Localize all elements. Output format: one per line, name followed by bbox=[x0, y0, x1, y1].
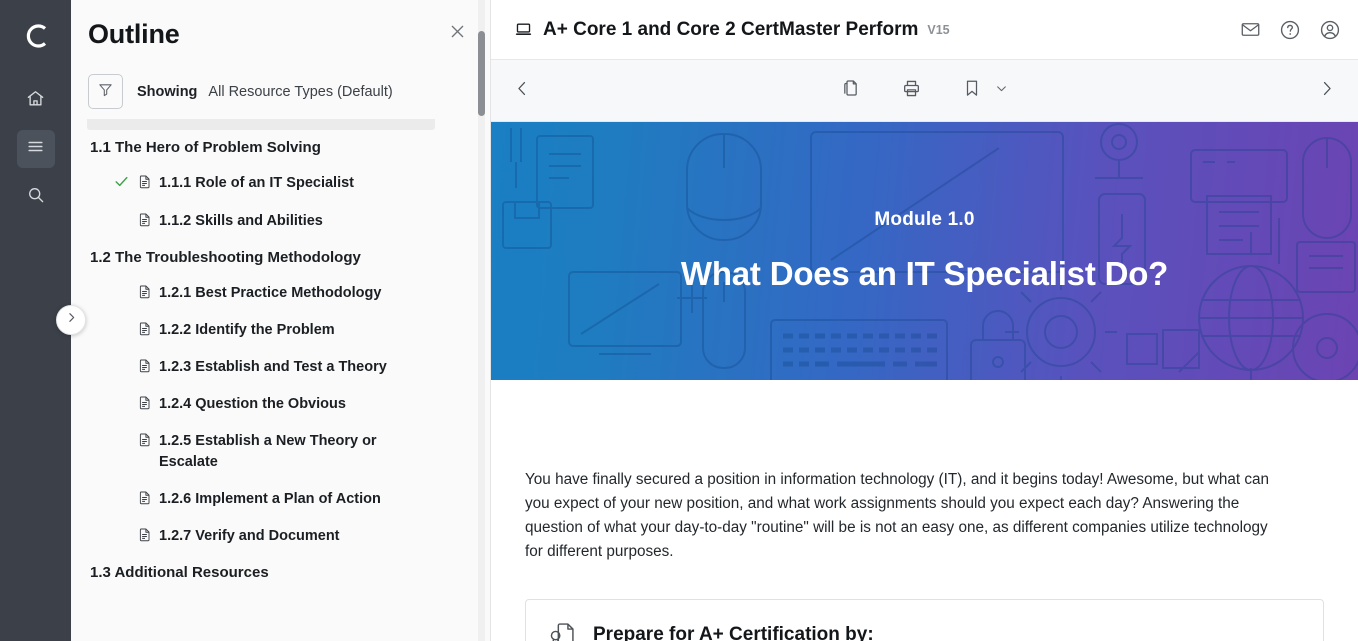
filter-funnel-icon bbox=[97, 81, 114, 103]
outline-item-section[interactable]: 1.3 Additional Resources bbox=[88, 555, 470, 590]
outline-item-label: 1.3 Additional Resources bbox=[90, 564, 269, 581]
outline-item-label: 1.2.7 Verify and Document bbox=[159, 526, 340, 547]
outline-item-label: 1.2.4 Question the Obvious bbox=[159, 394, 346, 415]
outline-item-label: Module 1.0 Introduction bbox=[103, 119, 272, 123]
close-icon bbox=[448, 22, 467, 46]
outline-header: Outline bbox=[71, 0, 490, 68]
previous-page-button[interactable] bbox=[513, 79, 532, 103]
chevron-right-icon bbox=[65, 311, 78, 329]
home-icon bbox=[26, 89, 45, 113]
outline-item-label: 1.2.2 Identify the Problem bbox=[159, 320, 335, 341]
outline-scrollbar-thumb[interactable] bbox=[478, 31, 485, 116]
book-icon bbox=[515, 21, 532, 38]
outline-item-topic[interactable]: 1.2.3 Establish and Test a Theory bbox=[88, 349, 470, 386]
document-icon bbox=[137, 211, 159, 227]
outline-item-label: 1.2.3 Establish and Test a Theory bbox=[159, 357, 387, 378]
outline-item-topic[interactable]: 1.2.6 Implement a Plan of Action bbox=[88, 481, 470, 518]
outline-item-module[interactable]: Module 1.0 Introduction bbox=[87, 119, 435, 130]
hamburger-menu-icon bbox=[26, 137, 45, 161]
intro-paragraph: You have finally secured a position in i… bbox=[491, 380, 1321, 564]
outline-item-section[interactable]: 1.2 The Troubleshooting Methodology bbox=[88, 240, 470, 275]
hero-tech-pattern bbox=[491, 122, 1358, 380]
outline-item-label: 1.2.5 Establish a New Theory or Escalate bbox=[159, 431, 417, 473]
main-area: A+ Core 1 and Core 2 CertMaster Perform … bbox=[491, 0, 1358, 641]
chevron-left-icon bbox=[513, 79, 532, 103]
document-icon bbox=[137, 173, 159, 189]
callout-title: Prepare for A+ Certification by: bbox=[593, 624, 874, 641]
comptia-c-logo-icon[interactable] bbox=[13, 13, 59, 59]
showing-label: Showing bbox=[137, 84, 197, 100]
user-account-icon[interactable] bbox=[1319, 19, 1341, 41]
mail-icon[interactable] bbox=[1240, 19, 1261, 40]
chevron-down-icon bbox=[995, 82, 1008, 100]
left-icon-rail bbox=[0, 0, 71, 641]
print-icon bbox=[901, 78, 922, 104]
outline-filter-row: Showing All Resource Types (Default) bbox=[71, 68, 490, 119]
rail-item-home[interactable] bbox=[17, 82, 55, 120]
outline-item-topic[interactable]: 1.2.7 Verify and Document bbox=[88, 518, 470, 555]
hero-module-label: Module 1.0 bbox=[874, 209, 974, 231]
prepare-callout: Prepare for A+ Certification by: Describ… bbox=[525, 599, 1324, 641]
outline-item-label: 1.2.1 Best Practice Methodology bbox=[159, 283, 381, 304]
help-circle-icon[interactable] bbox=[1279, 19, 1301, 41]
outline-item-topic[interactable]: 1.2.1 Best Practice Methodology bbox=[88, 275, 470, 312]
bookmark-dropdown-button[interactable] bbox=[995, 82, 1008, 100]
outline-item-label: 1.2.6 Implement a Plan of Action bbox=[159, 489, 381, 510]
document-icon bbox=[137, 357, 159, 373]
document-icon bbox=[137, 526, 159, 542]
outline-scrollbar-track[interactable] bbox=[478, 0, 485, 641]
document-icon bbox=[137, 283, 159, 299]
outline-item-label: 1.2 The Troubleshooting Methodology bbox=[90, 249, 361, 266]
outline-item-section[interactable]: 1.1 The Hero of Problem Solving bbox=[88, 130, 470, 165]
outline-item-label: 1.1.1 Role of an IT Specialist bbox=[159, 173, 354, 194]
panel-collapse-toggle[interactable] bbox=[56, 305, 86, 335]
bookmark-button[interactable] bbox=[962, 78, 982, 103]
outline-item-topic[interactable]: 1.2.4 Question the Obvious bbox=[88, 386, 470, 423]
document-content: Module 1.0 What Does an IT Specialist Do… bbox=[491, 122, 1358, 641]
header-actions bbox=[1240, 19, 1341, 41]
next-page-button[interactable] bbox=[1317, 79, 1336, 103]
course-version: V15 bbox=[927, 23, 949, 37]
copy-page-icon bbox=[841, 78, 861, 103]
print-button[interactable] bbox=[901, 78, 922, 104]
rail-item-search[interactable] bbox=[17, 178, 55, 216]
showing-value[interactable]: All Resource Types (Default) bbox=[208, 84, 392, 100]
course-title: A+ Core 1 and Core 2 CertMaster Perform bbox=[543, 19, 918, 41]
outline-item-topic[interactable]: 1.1.1 Role of an IT Specialist bbox=[88, 165, 470, 203]
outline-item-topic[interactable]: 1.2.2 Identify the Problem bbox=[88, 312, 470, 349]
outline-item-label: 1.1.2 Skills and Abilities bbox=[159, 211, 323, 232]
filter-button[interactable] bbox=[88, 74, 123, 109]
toolbar-center-actions bbox=[491, 78, 1358, 104]
outline-item-label: 1.1 The Hero of Problem Solving bbox=[90, 139, 321, 156]
certificate-document-icon bbox=[548, 620, 577, 641]
rail-item-outline[interactable] bbox=[17, 130, 55, 168]
outline-title: Outline bbox=[88, 19, 180, 50]
completed-check-icon bbox=[113, 173, 137, 195]
outline-item-topic[interactable]: 1.2.5 Establish a New Theory or Escalate bbox=[88, 423, 470, 481]
document-icon bbox=[137, 394, 159, 410]
callout-header: Prepare for A+ Certification by: bbox=[548, 620, 1299, 641]
hero-title: What Does an IT Specialist Do? bbox=[681, 255, 1168, 293]
outline-close-button[interactable] bbox=[442, 19, 472, 49]
bookmark-icon bbox=[962, 78, 982, 103]
module-hero-banner: Module 1.0 What Does an IT Specialist Do… bbox=[491, 122, 1358, 380]
search-icon bbox=[26, 185, 45, 209]
outline-item-topic[interactable]: 1.1.2 Skills and Abilities bbox=[88, 203, 470, 240]
document-icon bbox=[137, 489, 159, 505]
document-icon bbox=[137, 431, 159, 447]
outline-panel: Outline Showing All Resource Types (Defa… bbox=[71, 0, 491, 641]
document-icon bbox=[137, 320, 159, 336]
course-header: A+ Core 1 and Core 2 CertMaster Perform … bbox=[491, 0, 1358, 60]
copy-page-button[interactable] bbox=[841, 78, 861, 103]
chevron-right-icon bbox=[1317, 79, 1336, 103]
document-toolbar bbox=[491, 60, 1358, 122]
outline-list[interactable]: Module 1.0 Introduction1.1 The Hero of P… bbox=[71, 119, 490, 641]
